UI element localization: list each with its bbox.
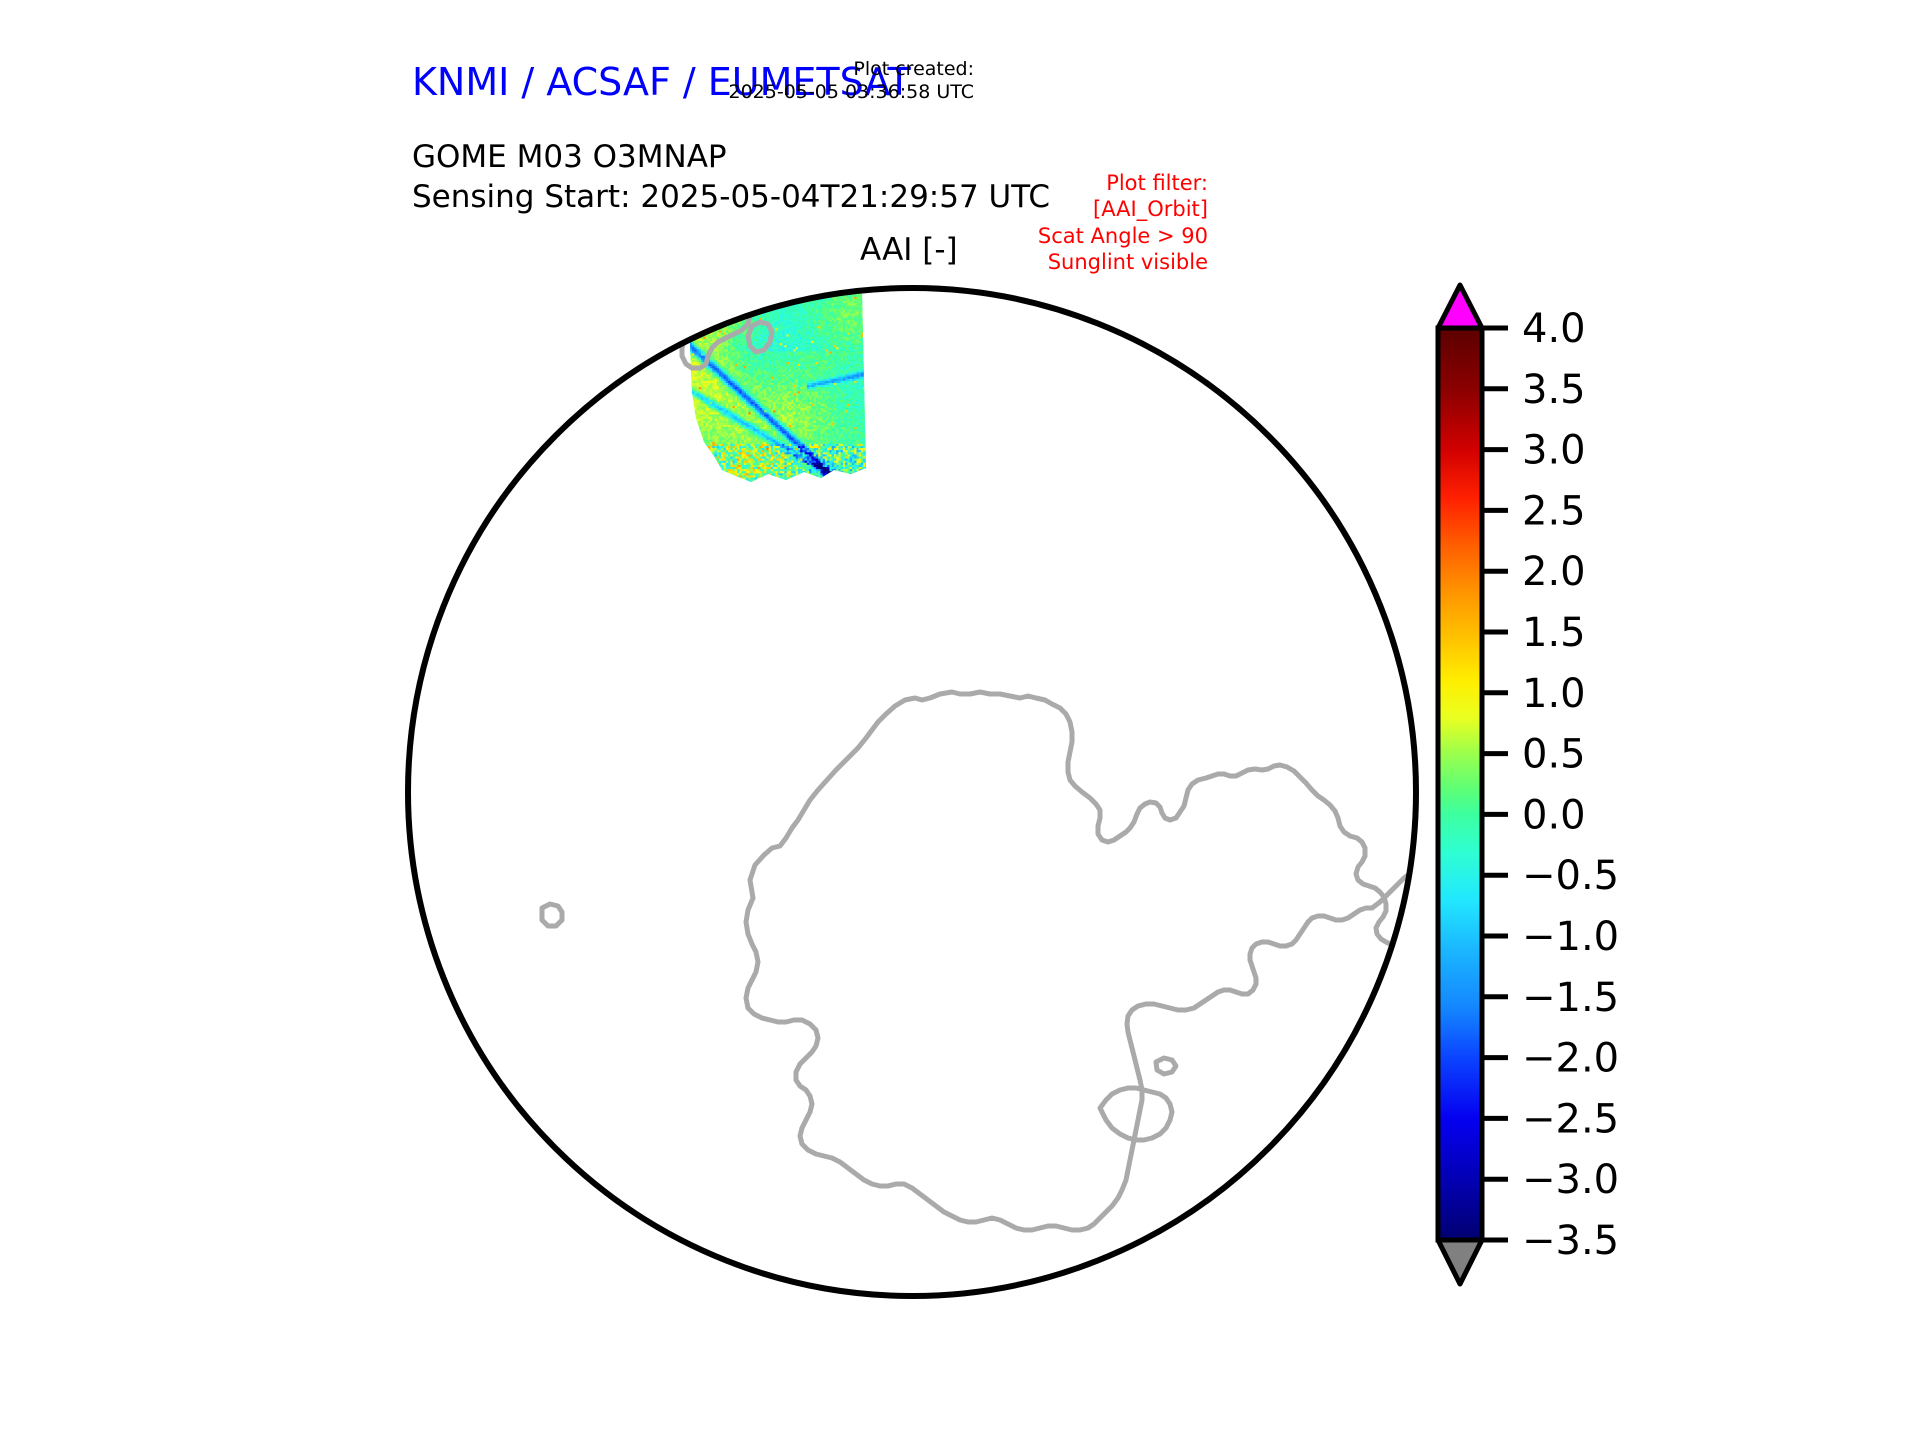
south-america-inner [1384, 1216, 1424, 1234]
dataset-name: GOME M03 O3MNAP [412, 138, 1050, 178]
data-swath [674, 280, 891, 492]
plot-filter-block: Plot filter: [AAI_Orbit] Scat Angle > 90… [1038, 170, 1208, 276]
falkland-island [1303, 1216, 1320, 1236]
colorbar-svg: 4.03.53.02.52.01.51.00.50.0−0.5−1.0−1.5−… [1430, 280, 1730, 1340]
colorbar-tick-label: 0.5 [1522, 732, 1586, 778]
peninsula-small-island [1156, 1058, 1176, 1074]
colorbar-tick-label: 0.0 [1522, 792, 1586, 838]
plot-filter-line-1: [AAI_Orbit] [1038, 196, 1208, 222]
antarctica-south-coast [746, 898, 1372, 1230]
plot-created-value: 2025-05-05 03:36:58 UTC [729, 81, 975, 104]
colorbar: 4.03.53.02.52.01.51.00.50.0−0.5−1.0−1.5−… [1430, 280, 1730, 1340]
colorbar-tick-label: −3.0 [1522, 1157, 1619, 1203]
colorbar-tick-label: 3.5 [1522, 367, 1586, 413]
plot-created-label: Plot created: [729, 58, 975, 81]
antarctic-peninsula [1372, 868, 1420, 908]
plot-created-block: Plot created: 2025-05-05 03:36:58 UTC [729, 58, 975, 104]
colorbar-tick-label: −0.5 [1522, 853, 1619, 899]
colorbar-tick-label: −1.5 [1522, 975, 1619, 1021]
colorbar-under-arrow [1438, 1240, 1482, 1284]
coastline-layer [518, 280, 1424, 1268]
plot-filter-line-2: Scat Angle > 90 [1038, 223, 1208, 249]
colorbar-tick-label: −3.5 [1522, 1218, 1619, 1264]
dataset-info-block: GOME M03 O3MNAP Sensing Start: 2025-05-0… [412, 138, 1050, 217]
south-america-tip [1290, 1146, 1422, 1268]
sensing-start: Sensing Start: 2025-05-04T21:29:57 UTC [412, 178, 1050, 218]
plot-filter-line-3: Sunglint visible [1038, 249, 1208, 275]
variable-title: AAI [-] [860, 232, 958, 268]
colorbar-gradient [1438, 328, 1482, 1240]
colorbar-tick-label: 1.5 [1522, 610, 1586, 656]
colorbar-ticks: 4.03.53.02.52.01.51.00.50.0−0.5−1.0−1.5−… [1482, 306, 1619, 1264]
colorbar-tick-label: 1.0 [1522, 671, 1586, 717]
colorbar-tick-label: −1.0 [1522, 914, 1619, 960]
antarctica-coastline [750, 692, 1411, 1046]
colorbar-tick-label: −2.5 [1522, 1096, 1619, 1142]
colorbar-tick-label: −2.0 [1522, 1036, 1619, 1082]
colorbar-tick-label: 2.0 [1522, 549, 1586, 595]
colorbar-tick-label: 3.0 [1522, 428, 1586, 474]
map-svg [400, 280, 1424, 1304]
plot-filter-label: Plot filter: [1038, 170, 1208, 196]
colorbar-tick-label: 2.5 [1522, 488, 1586, 534]
island-swath-upper-left [518, 280, 532, 288]
colorbar-tick-label: 4.0 [1522, 306, 1586, 352]
map-plot-area [400, 280, 1424, 1304]
colorbar-over-arrow [1438, 285, 1482, 328]
island-left [542, 904, 562, 926]
map-boundary-circle [408, 288, 1416, 1296]
island-swath-left [524, 290, 562, 326]
